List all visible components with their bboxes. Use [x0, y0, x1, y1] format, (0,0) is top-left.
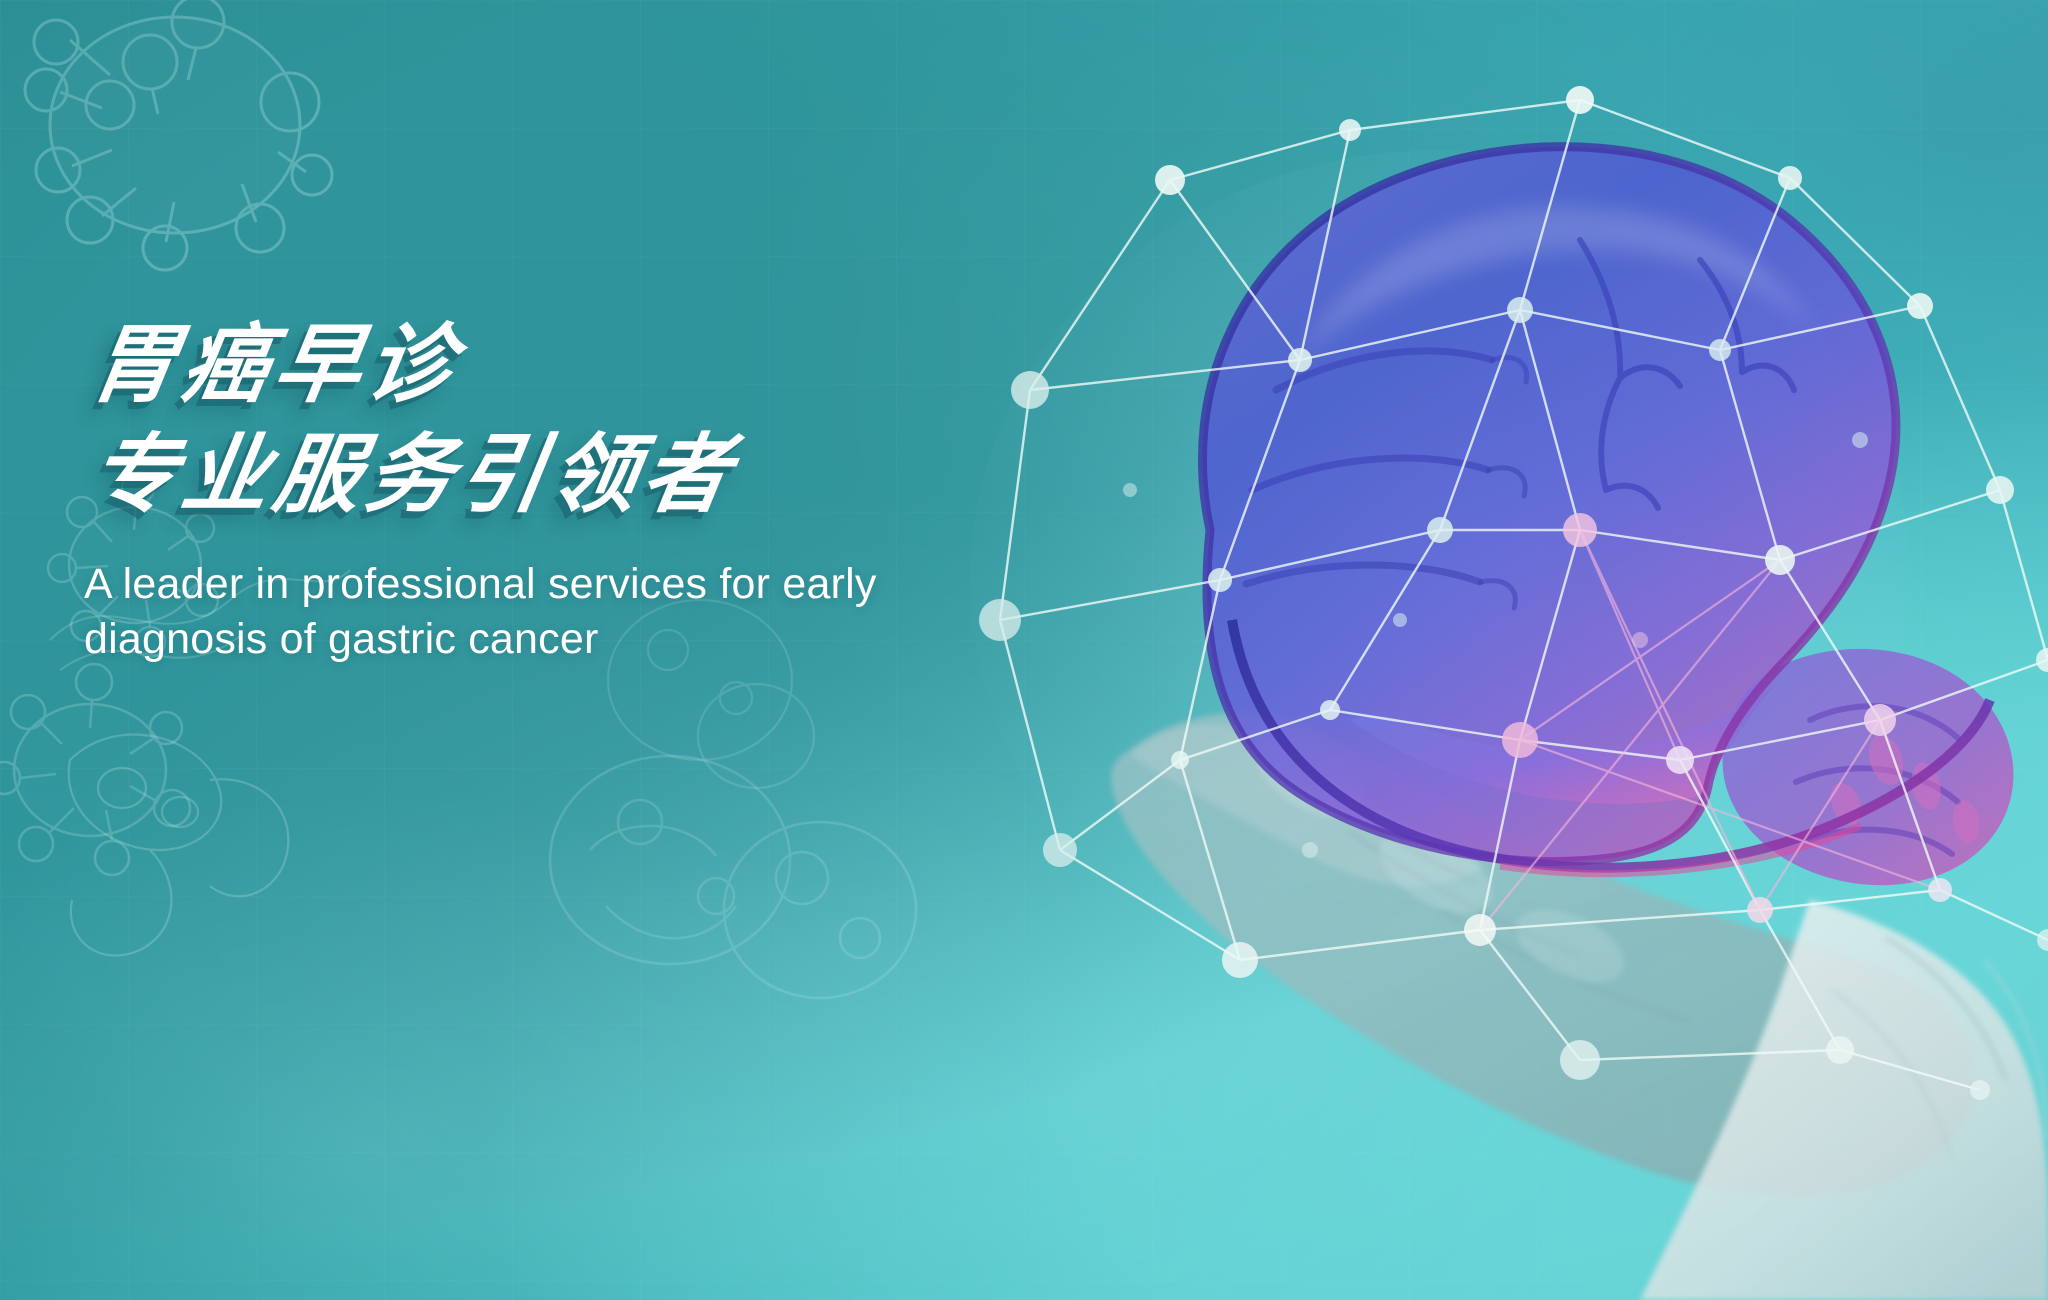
banner-text-block: 胃癌早诊 专业服务引领者 A leader in professional se…	[84, 322, 1004, 668]
subheadline-line-2: diagnosis of gastric cancer	[84, 612, 894, 667]
hand-holding-stomach-illustration	[880, 60, 2048, 1300]
promotional-banner: 胃癌早诊 专业服务引领者 A leader in professional se…	[0, 0, 2048, 1300]
subheadline: A leader in professional services for ea…	[84, 557, 894, 667]
headline-line-1: 胃癌早诊	[84, 322, 1018, 410]
headline-line-2: 专业服务引领者	[84, 432, 1018, 520]
subheadline-line-1: A leader in professional services for ea…	[84, 557, 894, 612]
